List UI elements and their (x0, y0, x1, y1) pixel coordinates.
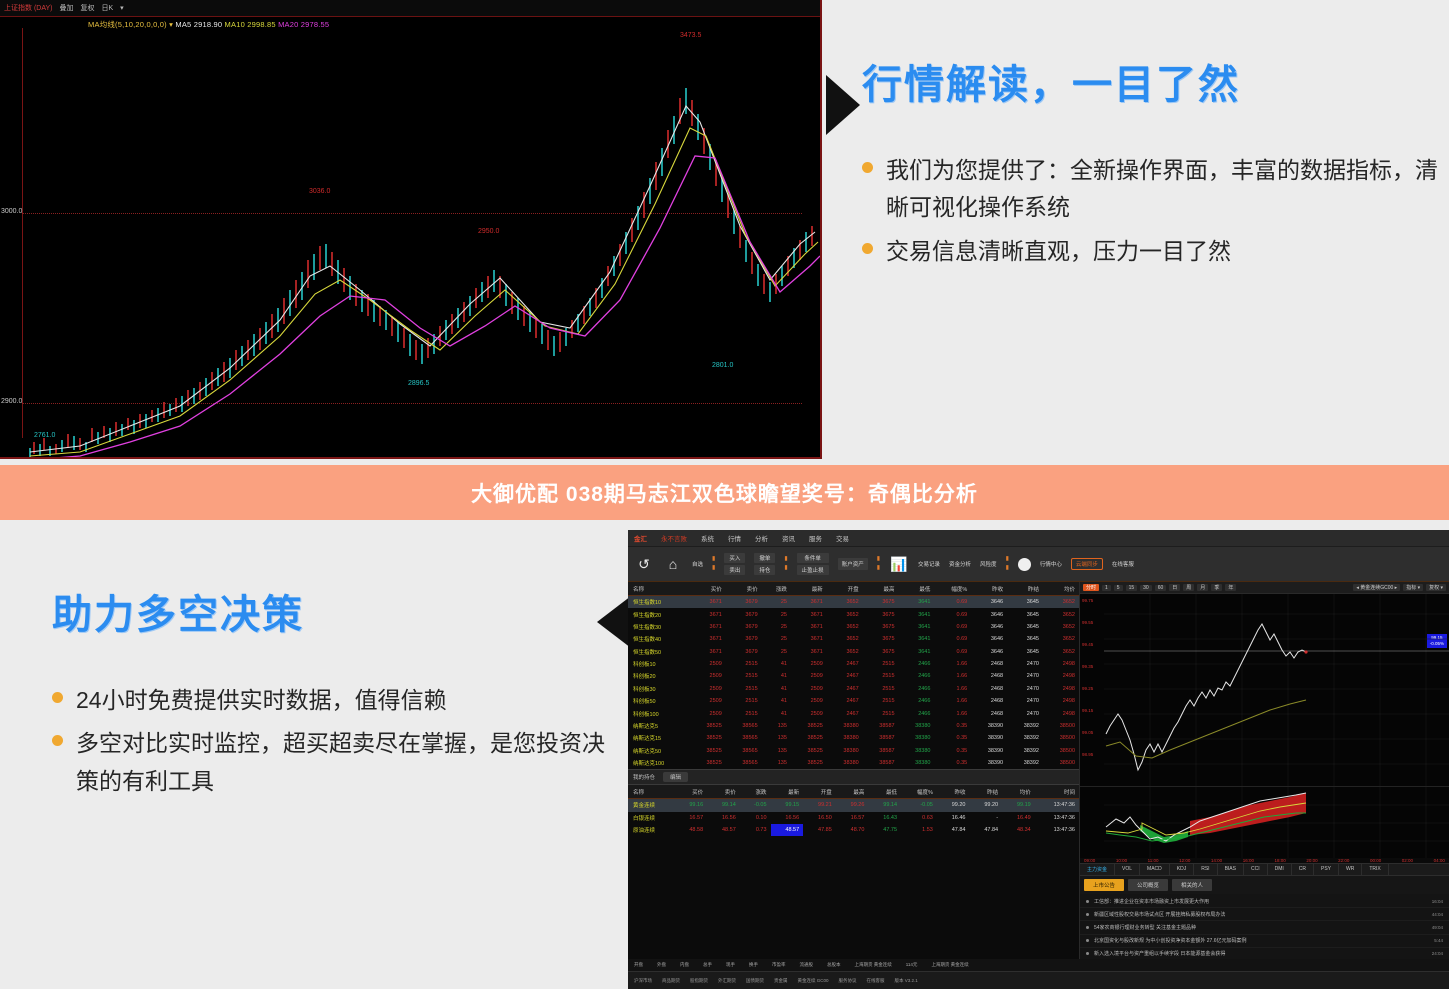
cell-pct: 1.66 (934, 695, 971, 707)
status-item[interactable]: 黄金连续 GC00 (798, 978, 829, 984)
cell-change: 0.73 (740, 824, 771, 836)
cell-low: 38380 (899, 757, 935, 769)
ticker-item: 总手 (703, 962, 712, 968)
news-item[interactable]: 新疆区域性股权交易市场试点区 开展挂牌私募股权布局办法44:04 (1080, 908, 1449, 921)
toolbar-cancel-position-group[interactable]: 撤单 持仓 (754, 553, 775, 575)
cell-prev-close: 2468 (971, 670, 1007, 682)
cell-prev-close: 38390 (971, 745, 1007, 757)
pcol-low[interactable]: 最低 (868, 785, 901, 799)
cell-avg: 2498 (1043, 658, 1079, 670)
cell-change: 41 (762, 695, 791, 707)
quote-table[interactable]: 名称 买价 卖价 涨跌 最新 开盘 最高 最低 幅度% 昨收 昨结 均价 (628, 582, 1079, 769)
cell-name: 科创板30 (628, 683, 690, 695)
indicator-subchart[interactable] (1080, 786, 1449, 858)
cell-ask: 2515 (726, 670, 762, 682)
cell-high: 2515 (863, 707, 899, 719)
col-ask[interactable]: 卖价 (726, 582, 762, 596)
cell-avg: 3652 (1043, 646, 1079, 658)
indicator-tab-vol[interactable]: VOL (1115, 864, 1140, 875)
table-row[interactable]: 白银连续16.5716.560.1016.5616.5016.5716.430.… (628, 812, 1079, 824)
account-assets-button[interactable]: 账户资产 (838, 558, 868, 570)
table-row[interactable]: 纳斯达克53852538565135385253838038587383800.… (628, 720, 1079, 732)
bullet-dot-icon (1086, 913, 1089, 916)
news-item[interactable]: 工信部：推进企业在资本市场融资上市发展更大作用16:04 (1080, 895, 1449, 908)
home-icon[interactable]: ⌂ (663, 554, 683, 574)
cell-open: 38380 (827, 745, 863, 757)
time-tick: 22:00 (1338, 858, 1349, 863)
pcol-pct[interactable]: 幅度% (901, 785, 937, 799)
indicator-tab-cci[interactable]: CCI (1244, 864, 1268, 875)
toolbar-buy-sell-group[interactable]: 买入 卖出 (724, 553, 745, 575)
cell-avg: 2498 (1043, 695, 1079, 707)
status-item[interactable]: 商品期货 (662, 978, 680, 984)
news-title[interactable]: 北京国资化与股改新规 为中小创投资净资本金额外 27.6亿元加码案例 (1094, 937, 1434, 944)
cell-name: 纳斯达克5 (628, 720, 690, 732)
list-item: 我们为您提供了：全新操作界面，丰富的数据指标，清晰可视化操作系统 (862, 152, 1442, 227)
table-row[interactable]: 科创板50250925154125092467251524661.6624682… (628, 695, 1079, 707)
cell-prev-settle: 3645 (1007, 621, 1043, 633)
status-item[interactable]: 股指期货 (690, 978, 708, 984)
col-open[interactable]: 开盘 (827, 582, 863, 596)
cell-open: 3652 (827, 646, 863, 658)
time-tick: 20:00 (1306, 858, 1317, 863)
cell-name: 科创板100 (628, 707, 690, 719)
cell-ask: 38565 (726, 732, 762, 744)
banner-title: 大御优配 038期马志江双色球瞻望奖号：奇偶比分析 (471, 478, 978, 508)
indicator-tab-dmi[interactable]: DMI (1268, 864, 1292, 875)
period-button-季[interactable]: 季 (1211, 584, 1222, 591)
cell-bid: 48.58 (675, 824, 708, 836)
cell-time: 13:47:36 (1035, 812, 1079, 824)
cell-low: 2466 (899, 683, 935, 695)
cell-prev-settle: 38392 (1007, 745, 1043, 757)
cell-prev-close: 38390 (971, 720, 1007, 732)
top-bullet-0: 我们为您提供了：全新操作界面，丰富的数据指标，清晰可视化操作系统 (886, 152, 1442, 227)
ticker-item: 外盘 (657, 962, 666, 968)
cell-pct: 0.35 (934, 720, 971, 732)
indicator-tab-rsi[interactable]: RSI (1194, 864, 1217, 875)
terminal-menubar[interactable]: 金汇 永不言败 系统 行情 分析 资讯 服务 交易 (628, 530, 1449, 546)
cell-prev-close: 16.46 (937, 812, 970, 824)
cell-pct: -0.05 (901, 799, 937, 812)
table-row[interactable]: 纳斯达克153852538565135385253838038587383800… (628, 732, 1079, 744)
table-row[interactable]: 恒生指数30367136792536713652367536410.693646… (628, 621, 1079, 633)
top-bullet-list: 我们为您提供了：全新操作界面，丰富的数据指标，清晰可视化操作系统 交易信息清晰直… (862, 152, 1442, 270)
cell-open: 3652 (827, 596, 863, 609)
ticker-item: 总股本 (827, 962, 841, 968)
cell-low: 3641 (899, 633, 935, 645)
cell-high: 3675 (863, 596, 899, 609)
col-last[interactable]: 最新 (791, 582, 827, 596)
lightbulb-icon[interactable] (1018, 558, 1031, 571)
col-change[interactable]: 涨跌 (762, 582, 791, 596)
menu-item-quotes[interactable]: 行情 (728, 533, 741, 543)
cell-last: 3671 (791, 621, 827, 633)
table-row[interactable]: 恒生指数50367136792536713652367536410.693646… (628, 646, 1079, 658)
period-button-1[interactable]: 1 (1102, 585, 1111, 591)
cell-name: 纳斯达克50 (628, 745, 690, 757)
positions-table[interactable]: 名称 买价 卖价 涨跌 最新 开盘 最高 最低 幅度% 昨收 昨结 均价 (628, 785, 1079, 836)
cell-ask: 3679 (726, 608, 762, 620)
news-title[interactable]: 54家农商银行理财业务转型 关注基金主题品种 (1094, 924, 1432, 931)
toolbar-divider-icon: ▮▮ (712, 555, 715, 572)
period-button-60[interactable]: 60 (1155, 585, 1167, 591)
menu-item-system[interactable]: 系统 (701, 533, 714, 543)
adjust-menu-button[interactable]: 复权 ▾ (1426, 584, 1446, 591)
cell-prev-settle: 3645 (1007, 633, 1043, 645)
terminal-status-bar[interactable]: 沪深市场商品期货股指期货外汇期货国债期货贵金属黄金连续 GC00服务协议在线客服… (628, 971, 1449, 989)
toolbar-divider-icon-2: ▮▮ (784, 555, 787, 572)
indicator-tab-bias[interactable]: BIAS (1218, 864, 1244, 875)
indicator-tab-kdj[interactable]: KDJ (1170, 864, 1194, 875)
cell-change: 0.10 (740, 812, 771, 824)
table-row[interactable]: 纳斯达克100385253856513538525383803858738380… (628, 757, 1079, 769)
cell-name: 原油连续 (628, 824, 675, 836)
cell-prev-close: 47.84 (937, 824, 970, 836)
news-tab-bar[interactable]: 上市公告公司概览相关的人 (1080, 876, 1449, 894)
positions-tab-label[interactable]: 我的持仓 (633, 773, 655, 781)
cell-time: 13:47:36 (1035, 824, 1079, 836)
period-button-分时[interactable]: 分时 (1083, 584, 1099, 591)
pcol-prev-settle[interactable]: 昨结 (969, 785, 1002, 799)
cell-high: 38587 (863, 720, 899, 732)
news-title[interactable]: 新入选入境平台与资产重组以手续字段 日本能源基金会获得 (1094, 950, 1432, 957)
cell-prev-close: 3646 (971, 596, 1007, 609)
cell-avg: 38500 (1043, 732, 1079, 744)
candlestick-chart-panel[interactable]: 上证指数 (DAY) 叠加 复权 日K ▾ MA均线(5,10,20,0,0,0… (0, 0, 822, 459)
cell-name: 恒生指数20 (628, 608, 690, 620)
table-row[interactable]: 科创板30250925154125092467251524661.6624682… (628, 683, 1079, 695)
cell-pct: 0.35 (934, 745, 971, 757)
positions-button[interactable]: 持仓 (754, 565, 775, 575)
chart-menubar[interactable]: 上证指数 (DAY) 叠加 复权 日K ▾ (0, 0, 820, 17)
pcol-high[interactable]: 最高 (836, 785, 869, 799)
cell-avg: 38500 (1043, 757, 1079, 769)
toolbar-label-self-select[interactable]: 自选 (692, 560, 703, 568)
cell-bid: 3671 (690, 621, 726, 633)
symbol-selector[interactable]: ◂ 黄金连续GC00 ▸ (1353, 584, 1400, 591)
cell-prev-close: 99.20 (937, 799, 970, 812)
cell-low: 99.14 (868, 799, 901, 812)
intraday-series-svg (1080, 594, 1449, 786)
cell-prev-settle: 99.20 (969, 799, 1002, 812)
buy-button[interactable]: 买入 (724, 553, 745, 563)
chart-menu-item-1[interactable]: 复权 (80, 3, 94, 13)
col-prev-close[interactable]: 昨收 (971, 582, 1007, 596)
cell-bid: 2509 (690, 658, 726, 670)
news-time: 16:04 (1432, 899, 1443, 904)
cell-prev-close: 2468 (971, 683, 1007, 695)
terminal-brand: 金汇 (634, 533, 647, 543)
toolbar-conditional-group[interactable]: 条件单 止盈止损 (797, 553, 829, 575)
col-high[interactable]: 最高 (863, 582, 899, 596)
cell-prev-settle: 2470 (1007, 707, 1043, 719)
indicator-tab-cr[interactable]: CR (1292, 864, 1314, 875)
menu-item-news[interactable]: 资讯 (782, 533, 795, 543)
news-time: 24:04 (1432, 951, 1443, 956)
cloud-sync-button[interactable]: 云端同步 (1071, 558, 1103, 570)
positions-table-body: 黄金连续99.1699.14-0.0599.1599.2199.2699.14-… (628, 799, 1079, 837)
pcol-change[interactable]: 涨跌 (740, 785, 771, 799)
time-tick: 14:00 (1211, 858, 1222, 863)
cell-pct: 1.53 (901, 824, 937, 836)
ticker-item: 内盘 (680, 962, 689, 968)
ticker-item: 开盘 (634, 962, 643, 968)
conditional-order-button[interactable]: 条件单 (797, 553, 829, 563)
cell-avg: 38500 (1043, 720, 1079, 732)
cell-bid: 16.57 (675, 812, 708, 824)
cell-prev-settle: 2470 (1007, 658, 1043, 670)
cell-name: 黄金连续 (628, 799, 675, 812)
cell-avg: 2498 (1043, 670, 1079, 682)
chart-news-panel[interactable]: 分时15153060日周月季年◂ 黄金连续GC00 ▸指标 ▾复权 ▾ 99.7… (1080, 582, 1449, 989)
terminal-ticker-bar: 开盘外盘内盘总手现手换手市盈率流通股总股本上海期货 黄金连续114元上海期货 黄… (628, 959, 1449, 971)
cell-prev-close: 2468 (971, 707, 1007, 719)
ticker-item: 上海期货 黄金连续 (855, 962, 892, 968)
pcol-prev-close[interactable]: 昨收 (937, 785, 970, 799)
cell-prev-settle: 2470 (1007, 695, 1043, 707)
candles-up (34, 98, 812, 454)
quote-center-button[interactable]: 行情中心 (1040, 560, 1062, 568)
back-arrow-icon[interactable]: ↺ (634, 554, 654, 574)
cell-pct: 0.35 (934, 732, 971, 744)
cell-pct: 0.35 (934, 757, 971, 769)
indicator-tab-wr[interactable]: WR (1339, 864, 1362, 875)
cell-last: 16.56 (771, 812, 804, 824)
cell-prev-settle: 38392 (1007, 732, 1043, 744)
chevron-down-icon[interactable]: ▾ (120, 4, 124, 12)
cell-low: 38380 (899, 732, 935, 744)
table-row[interactable]: 原油连续48.5848.570.7348.5747.8548.7047.751.… (628, 824, 1079, 836)
col-bid[interactable]: 买价 (690, 582, 726, 596)
pcol-last[interactable]: 最新 (771, 785, 804, 799)
news-title[interactable]: 工信部：推进企业在资本市场融资上市发展更大作用 (1094, 898, 1432, 905)
pcol-bid[interactable]: 买价 (675, 785, 708, 799)
table-row[interactable]: 恒生指数20367136792536713652367536410.693646… (628, 608, 1079, 620)
news-item[interactable]: 北京国资化与股改新规 为中小创投资净资本金额外 27.6亿元加码案例5:44 (1080, 935, 1449, 948)
status-item[interactable]: 外汇期货 (718, 978, 736, 984)
table-row[interactable]: 恒生指数40367136792536713652367536410.693646… (628, 633, 1079, 645)
sell-button[interactable]: 卖出 (724, 565, 745, 575)
chart-icon[interactable]: 📊 (889, 554, 909, 574)
indicator-tab-macd[interactable]: MACD (1140, 864, 1170, 875)
cell-prev-settle: 3645 (1007, 646, 1043, 658)
ticker-item: 流通股 (800, 962, 814, 968)
cell-change: 41 (762, 707, 791, 719)
bullet-dot-icon (862, 243, 873, 254)
cell-ask: 3679 (726, 646, 762, 658)
ticker-item: 换手 (749, 962, 758, 968)
table-row[interactable]: 黄金连续99.1699.14-0.0599.1599.2199.2699.14-… (628, 799, 1079, 812)
cell-pct: 1.66 (934, 670, 971, 682)
status-item[interactable]: 版本 V3.2.1 (895, 978, 918, 984)
status-item[interactable]: 在线客服 (867, 978, 885, 984)
cell-last: 2509 (791, 670, 827, 682)
chart-plot-area[interactable]: 3000.0 2900.0 3473.5 3036.0 2950.0 2896.… (0, 28, 822, 458)
cell-open: 2467 (827, 670, 863, 682)
indicator-tab-trix[interactable]: TRIX (1362, 864, 1388, 875)
cell-avg: 3652 (1043, 608, 1079, 620)
cancel-order-button[interactable]: 撤单 (754, 553, 775, 563)
cell-low: 47.75 (868, 824, 901, 836)
cell-high: 48.70 (836, 824, 869, 836)
pcol-time[interactable]: 时间 (1035, 785, 1079, 799)
risk-level-button[interactable]: 风险度 (980, 560, 997, 568)
chart-period-label[interactable]: 日K (101, 3, 113, 13)
time-tick: 18:00 (1275, 858, 1286, 863)
status-item[interactable]: 国债期货 (746, 978, 764, 984)
cell-change: 25 (762, 608, 791, 620)
news-tab[interactable]: 相关的人 (1172, 879, 1212, 891)
news-item[interactable]: 54家农商银行理财业务转型 关注基金主题品种49:04 (1080, 921, 1449, 934)
indicator-menu-button[interactable]: 指标 ▾ (1403, 584, 1423, 591)
news-time: 49:04 (1432, 925, 1443, 930)
table-row[interactable]: 恒生指数10367136792536713652367536410.693646… (628, 596, 1079, 609)
col-name[interactable]: 名称 (628, 582, 690, 596)
chart-menu-item-0[interactable]: 叠加 (59, 3, 73, 13)
cell-last: 3671 (791, 596, 827, 609)
toolbar-divider-icon-3: ▮▮ (877, 555, 880, 572)
cell-high: 2515 (863, 658, 899, 670)
table-row[interactable]: 科创板20250925154125092467251524661.6624682… (628, 670, 1079, 682)
table-row[interactable]: 纳斯达克503852538565135385253838038587383800… (628, 745, 1079, 757)
news-title[interactable]: 新疆区域性股权交易市场试点区 开展挂牌私募股权布局办法 (1094, 911, 1432, 918)
news-tab[interactable]: 上市公告 (1084, 879, 1124, 891)
news-time: 5:44 (1434, 938, 1443, 943)
cell-ask: 99.14 (707, 799, 740, 812)
cell-change: 25 (762, 646, 791, 658)
cell-last: 38525 (791, 757, 827, 769)
toolbar-divider-icon-4: ▮▮ (1006, 555, 1009, 572)
ma20-line (30, 156, 820, 458)
cell-name: 科创板20 (628, 670, 690, 682)
period-button-年[interactable]: 年 (1225, 584, 1236, 591)
trade-records-button[interactable]: 交易记录 (918, 560, 940, 568)
bottom-bullet-list: 24小时免费提供实时数据，值得信赖 多空对比实时监控，超买超卖尽在掌握，是您投资… (52, 682, 612, 800)
col-avg[interactable]: 均价 (1043, 582, 1079, 596)
cell-high: 16.57 (836, 812, 869, 824)
terminal-toolbar[interactable]: ↺ ⌂ 自选 ▮▮ 买入 卖出 撤单 持仓 ▮▮ 条件单 止盈止损 账户资产 ▮… (628, 546, 1449, 582)
news-tab[interactable]: 公司概览 (1128, 879, 1168, 891)
cell-pct: 1.66 (934, 658, 971, 670)
indicator-tab-bar[interactable]: 主力资金VOLMACDKDJRSIBIASCCIDMICRPSYWRTRIX (1080, 863, 1449, 876)
bullet-dot-icon (862, 162, 873, 173)
intraday-chart[interactable]: 99.75 99.55 99.45 99.35 99.25 99.15 99.0… (1080, 594, 1449, 786)
positions-subbar[interactable]: 我的持仓 编辑 (628, 769, 1079, 785)
period-button-30[interactable]: 30 (1140, 585, 1152, 591)
bottom-bullet-1: 多空对比实时监控，超买超卖尽在掌握，是您投资决策的有利工具 (76, 725, 612, 800)
table-row[interactable]: 科创板100250925154125092467251524661.662468… (628, 707, 1079, 719)
fund-analysis-button[interactable]: 资金分析 (949, 560, 971, 568)
stop-profit-loss-button[interactable]: 止盈止损 (797, 565, 829, 575)
period-button-周[interactable]: 周 (1183, 584, 1194, 591)
cell-avg: 2498 (1043, 683, 1079, 695)
cell-prev-close: 3646 (971, 621, 1007, 633)
callout-arrow-top (826, 75, 860, 135)
period-button-日[interactable]: 日 (1169, 584, 1180, 591)
cell-high: 38587 (863, 757, 899, 769)
callout-arrow-bottom (597, 596, 631, 648)
cell-change: 41 (762, 670, 791, 682)
cell-change: 25 (762, 633, 791, 645)
cell-high: 2515 (863, 695, 899, 707)
page-banner: 大御优配 038期马志江双色球瞻望奖号：奇偶比分析 (0, 465, 1449, 520)
edit-button[interactable]: 编辑 (663, 772, 688, 782)
period-button-月[interactable]: 月 (1197, 584, 1208, 591)
cell-ask: 3679 (726, 621, 762, 633)
menu-item-analysis[interactable]: 分析 (755, 533, 768, 543)
cell-prev-settle: 2470 (1007, 683, 1043, 695)
cell-high: 2515 (863, 683, 899, 695)
time-tick: 00:00 (1370, 858, 1381, 863)
status-item[interactable]: 服务协议 (839, 978, 857, 984)
cell-name: 科创板10 (628, 658, 690, 670)
cell-open: 3652 (827, 608, 863, 620)
quote-table-header: 名称 买价 卖价 涨跌 最新 开盘 最高 最低 幅度% 昨收 昨结 均价 (628, 582, 1079, 596)
ma5-line (30, 106, 815, 452)
chart-period-toolbar[interactable]: 分时15153060日周月季年◂ 黄金连续GC00 ▸指标 ▾复权 ▾ (1080, 582, 1449, 594)
pcol-open[interactable]: 开盘 (803, 785, 836, 799)
time-tick: 10:00 (1116, 858, 1127, 863)
col-prev-settle[interactable]: 昨结 (1007, 582, 1043, 596)
cell-open: 99.21 (803, 799, 836, 812)
cell-bid: 3671 (690, 608, 726, 620)
cell-open: 16.50 (803, 812, 836, 824)
pcol-name[interactable]: 名称 (628, 785, 675, 799)
quote-panel[interactable]: 名称 买价 卖价 涨跌 最新 开盘 最高 最低 幅度% 昨收 昨结 均价 (628, 582, 1080, 989)
pcol-ask[interactable]: 卖价 (707, 785, 740, 799)
cell-low: 3641 (899, 646, 935, 658)
status-item[interactable]: 贵金属 (774, 978, 788, 984)
online-support-button[interactable]: 在线客服 (1112, 560, 1134, 568)
cell-open: 3652 (827, 633, 863, 645)
cell-bid: 2509 (690, 695, 726, 707)
period-button-5[interactable]: 5 (1114, 585, 1123, 591)
time-tick: 12:00 (1179, 858, 1190, 863)
cell-pct: 1.66 (934, 683, 971, 695)
candles-down (30, 88, 806, 458)
cell-ask: 3679 (726, 633, 762, 645)
indicator-tab-psy[interactable]: PSY (1314, 864, 1339, 875)
ticker-item: 现手 (726, 962, 735, 968)
cell-change: -0.05 (740, 799, 771, 812)
col-pct[interactable]: 幅度% (934, 582, 971, 596)
cell-change: 135 (762, 745, 791, 757)
cell-ask: 2515 (726, 658, 762, 670)
cell-open: 2467 (827, 707, 863, 719)
status-item[interactable]: 沪深市场 (634, 978, 652, 984)
cell-name: 恒生指数40 (628, 633, 690, 645)
cell-pct: 1.66 (934, 707, 971, 719)
cell-avg: 3652 (1043, 596, 1079, 609)
pcol-avg[interactable]: 均价 (1002, 785, 1035, 799)
menu-item-service[interactable]: 服务 (809, 533, 822, 543)
cell-change: 41 (762, 658, 791, 670)
period-button-15[interactable]: 15 (1126, 585, 1138, 591)
table-row[interactable]: 科创板10250925154125092467251524661.6624682… (628, 658, 1079, 670)
trading-terminal-screenshot[interactable]: 金汇 永不言败 系统 行情 分析 资讯 服务 交易 ↺ ⌂ 自选 ▮▮ 买入 卖… (628, 530, 1449, 989)
cell-bid: 3671 (690, 596, 726, 609)
ticker-item: 市盈率 (772, 962, 786, 968)
cell-name: 纳斯达克15 (628, 732, 690, 744)
menu-item-trade[interactable]: 交易 (836, 533, 849, 543)
cell-bid: 38525 (690, 757, 726, 769)
indicator-tab-主力资金[interactable]: 主力资金 (1080, 864, 1115, 875)
cell-avg: 2498 (1043, 707, 1079, 719)
cell-bid: 38525 (690, 732, 726, 744)
cell-prev-settle: 3645 (1007, 596, 1043, 609)
col-low[interactable]: 最低 (899, 582, 935, 596)
